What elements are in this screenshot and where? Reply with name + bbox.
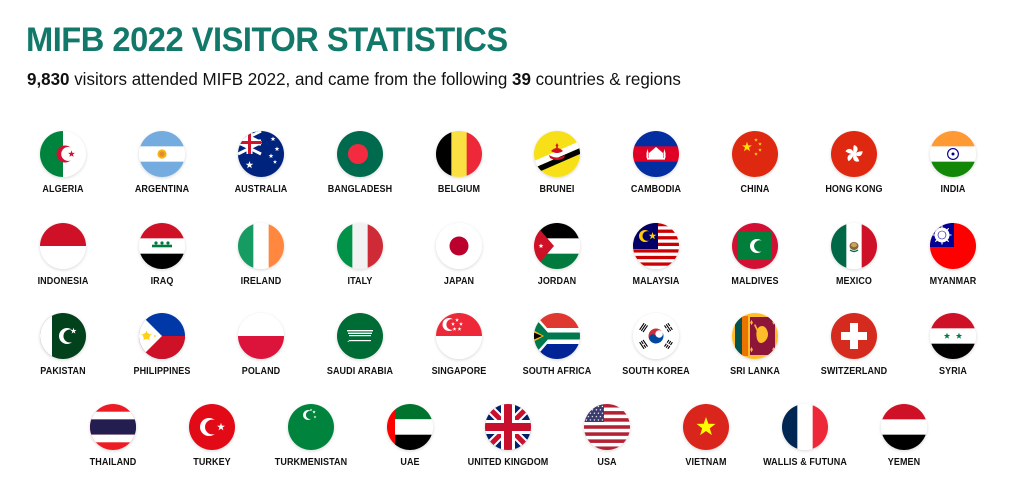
country-label: JORDAN [508,276,607,287]
flag-argentina-icon [139,131,185,177]
flag-algeria-icon [40,131,86,177]
country-label: JAPAN [410,276,509,287]
country-label: ARGENTINA [113,184,212,195]
flag-poland-icon [238,313,284,359]
country-item-vietnam[interactable]: VIETNAM [651,404,761,468]
flag-uae-icon [387,404,433,450]
flag-south-africa-icon [534,313,580,359]
country-item-poland[interactable]: POLAND [206,313,316,377]
country-label: UNITED KINGDOM [459,457,558,468]
flag-malaysia-icon [633,223,679,269]
flag-hong-kong-icon [831,131,877,177]
flag-mexico-icon [831,223,877,269]
flag-usa-icon [584,404,630,450]
country-item-italy[interactable]: ITALY [305,223,415,287]
country-item-mexico[interactable]: MEXICO [799,223,909,287]
country-label: UAE [361,457,460,468]
flag-china-icon [732,131,778,177]
country-label: SINGAPORE [410,366,509,377]
country-item-saudi-arabia[interactable]: SAUDI ARABIA [305,313,415,377]
country-label: ALGERIA [14,184,113,195]
country-item-algeria[interactable]: ALGERIA [8,131,118,195]
country-label: TURKEY [163,457,262,468]
country-label: PHILIPPINES [113,366,212,377]
country-label: IRELAND [212,276,311,287]
flag-thailand-icon [90,404,136,450]
country-item-turkey[interactable]: TURKEY [157,404,267,468]
flag-vietnam-icon [683,404,729,450]
country-item-iraq[interactable]: IRAQ [107,223,217,287]
flag-united-kingdom-icon [485,404,531,450]
country-label: MALAYSIA [607,276,706,287]
country-label: MALDIVES [706,276,805,287]
country-label: SRI LANKA [706,366,805,377]
flag-singapore-icon [436,313,482,359]
country-label: MYANMAR [904,276,1003,287]
flag-jordan-icon [534,223,580,269]
flag-australia-icon [238,131,284,177]
country-label: CAMBODIA [607,184,706,195]
country-label: WALLIS & FUTUNA [756,457,855,468]
flag-saudi-arabia-icon [337,313,383,359]
flag-japan-icon [436,223,482,269]
country-item-south-korea[interactable]: SOUTH KOREA [601,313,711,377]
flag-philippines-icon [139,313,185,359]
country-label: INDONESIA [14,276,113,287]
flag-south-korea-icon [633,313,679,359]
country-item-sri-lanka[interactable]: SRI LANKA [700,313,810,377]
flag-brunei-icon [534,131,580,177]
flag-iraq-icon [139,223,185,269]
country-label: SOUTH KOREA [607,366,706,377]
country-label: YEMEN [855,457,954,468]
country-item-hong-kong[interactable]: HONG KONG [799,131,909,195]
country-item-south-africa[interactable]: SOUTH AFRICA [502,313,612,377]
country-item-jordan[interactable]: JORDAN [502,223,612,287]
country-label: TURKMENISTAN [262,457,361,468]
flag-cambodia-icon [633,131,679,177]
country-item-belgium[interactable]: BELGIUM [404,131,514,195]
country-item-bangladesh[interactable]: BANGLADESH [305,131,415,195]
country-label: VIETNAM [657,457,756,468]
country-label: POLAND [212,366,311,377]
country-item-indonesia[interactable]: INDONESIA [8,223,118,287]
country-label: ITALY [311,276,410,287]
country-label: HONG KONG [805,184,904,195]
country-label: SAUDI ARABIA [311,366,410,377]
country-item-wallis-futuna[interactable]: WALLIS & FUTUNA [750,404,860,468]
flag-pakistan-icon [40,313,86,359]
country-flag-grid: ALGERIAARGENTINAAUSTRALIABANGLADESHBELGI… [0,0,1015,492]
country-item-ireland[interactable]: IRELAND [206,223,316,287]
flag-sri-lanka-icon [732,313,778,359]
country-label: BELGIUM [410,184,509,195]
country-item-australia[interactable]: AUSTRALIA [206,131,316,195]
flag-turkmenistan-icon [288,404,334,450]
country-item-turkmenistan[interactable]: TURKMENISTAN [256,404,366,468]
country-item-maldives[interactable]: MALDIVES [700,223,810,287]
flag-turkey-icon [189,404,235,450]
country-label: BANGLADESH [311,184,410,195]
country-item-cambodia[interactable]: CAMBODIA [601,131,711,195]
country-item-japan[interactable]: JAPAN [404,223,514,287]
country-label: SWITZERLAND [805,366,904,377]
country-item-malaysia[interactable]: MALAYSIA [601,223,711,287]
country-item-philippines[interactable]: PHILIPPINES [107,313,217,377]
country-label: SYRIA [904,366,1003,377]
country-item-brunei[interactable]: BRUNEI [502,131,612,195]
flag-wallis-futuna-icon [782,404,828,450]
country-item-yemen[interactable]: YEMEN [849,404,959,468]
flag-switzerland-icon [831,313,877,359]
country-item-singapore[interactable]: SINGAPORE [404,313,514,377]
flag-india-icon [930,131,976,177]
country-label: THAILAND [64,457,163,468]
country-item-pakistan[interactable]: PAKISTAN [8,313,118,377]
flag-ireland-icon [238,223,284,269]
flag-myanmar-icon [930,223,976,269]
country-item-switzerland[interactable]: SWITZERLAND [799,313,909,377]
country-label: AUSTRALIA [212,184,311,195]
country-label: USA [558,457,657,468]
country-item-syria[interactable]: SYRIA [898,313,1008,377]
country-label: SOUTH AFRICA [508,366,607,377]
flag-syria-icon [930,313,976,359]
country-label: PAKISTAN [14,366,113,377]
country-item-india[interactable]: INDIA [898,131,1008,195]
country-label: INDIA [904,184,1003,195]
country-label: IRAQ [113,276,212,287]
country-item-china[interactable]: CHINA [700,131,810,195]
flag-belgium-icon [436,131,482,177]
flag-indonesia-icon [40,223,86,269]
country-label: BRUNEI [508,184,607,195]
country-item-argentina[interactable]: ARGENTINA [107,131,217,195]
country-item-usa[interactable]: USA [552,404,662,468]
flag-bangladesh-icon [337,131,383,177]
country-label: MEXICO [805,276,904,287]
flag-italy-icon [337,223,383,269]
flag-maldives-icon [732,223,778,269]
country-item-thailand[interactable]: THAILAND [58,404,168,468]
flag-yemen-icon [881,404,927,450]
country-label: CHINA [706,184,805,195]
country-item-myanmar[interactable]: MYANMAR [898,223,1008,287]
country-item-uae[interactable]: UAE [355,404,465,468]
country-item-united-kingdom[interactable]: UNITED KINGDOM [453,404,563,468]
